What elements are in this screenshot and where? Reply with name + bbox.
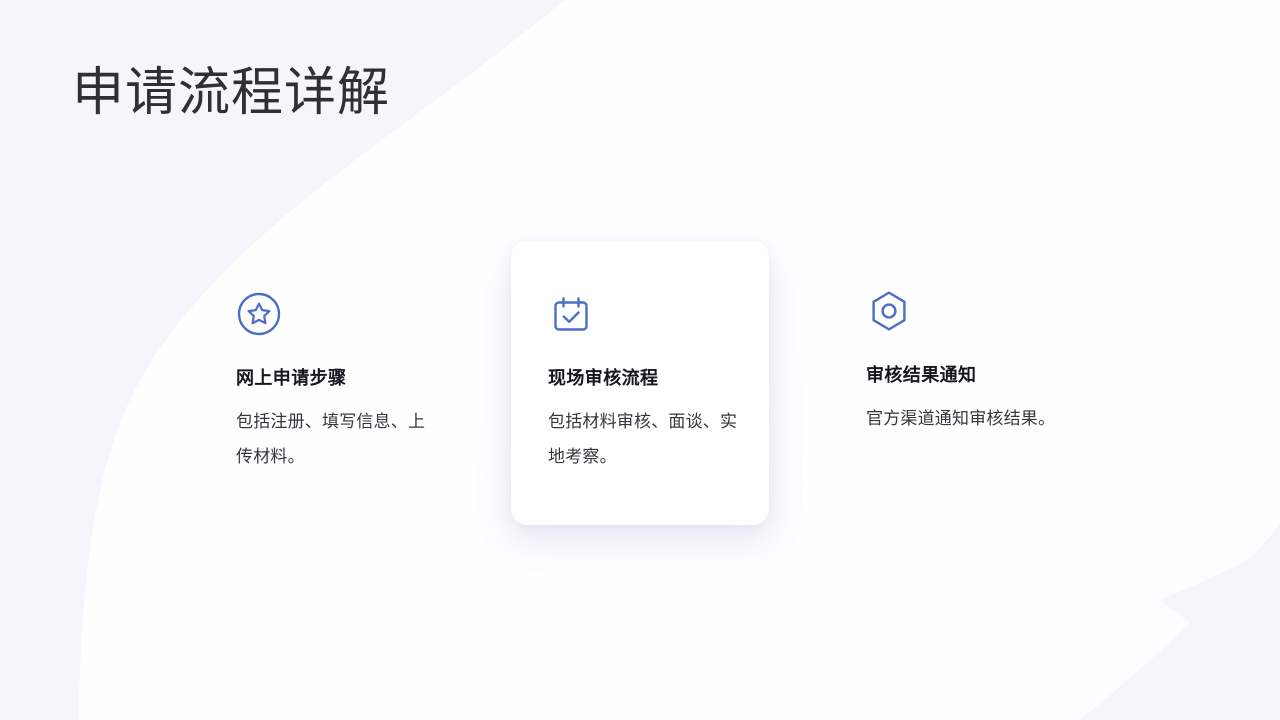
feature-card-title: 网上申请步骤 <box>236 367 446 390</box>
page-title: 申请流程详解 <box>72 63 390 124</box>
feature-card-title: 审核结果通知 <box>866 364 1076 387</box>
feature-card-description: 包括注册、填写信息、上传材料。 <box>236 404 432 474</box>
feature-card-featured[interactable]: 现场审核流程 包括材料审核、面谈、实地考察。 <box>511 241 769 525</box>
feature-card-row: 网上申请步骤 包括注册、填写信息、上传材料。 现场审核流程 包括材料审核、面谈、… <box>0 241 1280 531</box>
feature-card[interactable]: 审核结果通知 官方渠道通知审核结果。 <box>833 241 1091 525</box>
calendar-check-icon <box>548 291 594 337</box>
feature-card-title: 现场审核流程 <box>548 367 758 390</box>
feature-card[interactable]: 网上申请步骤 包括注册、填写信息、上传材料。 <box>203 241 461 525</box>
feature-card-description: 官方渠道通知审核结果。 <box>866 401 1062 436</box>
star-circle-icon <box>236 291 282 337</box>
feature-card-description: 包括材料审核、面谈、实地考察。 <box>548 404 744 474</box>
hexagon-circle-icon <box>866 288 912 334</box>
slide-canvas: 申请流程详解 网上申请步骤 包括注册、填写信息、上传材料。 <box>0 0 1280 720</box>
